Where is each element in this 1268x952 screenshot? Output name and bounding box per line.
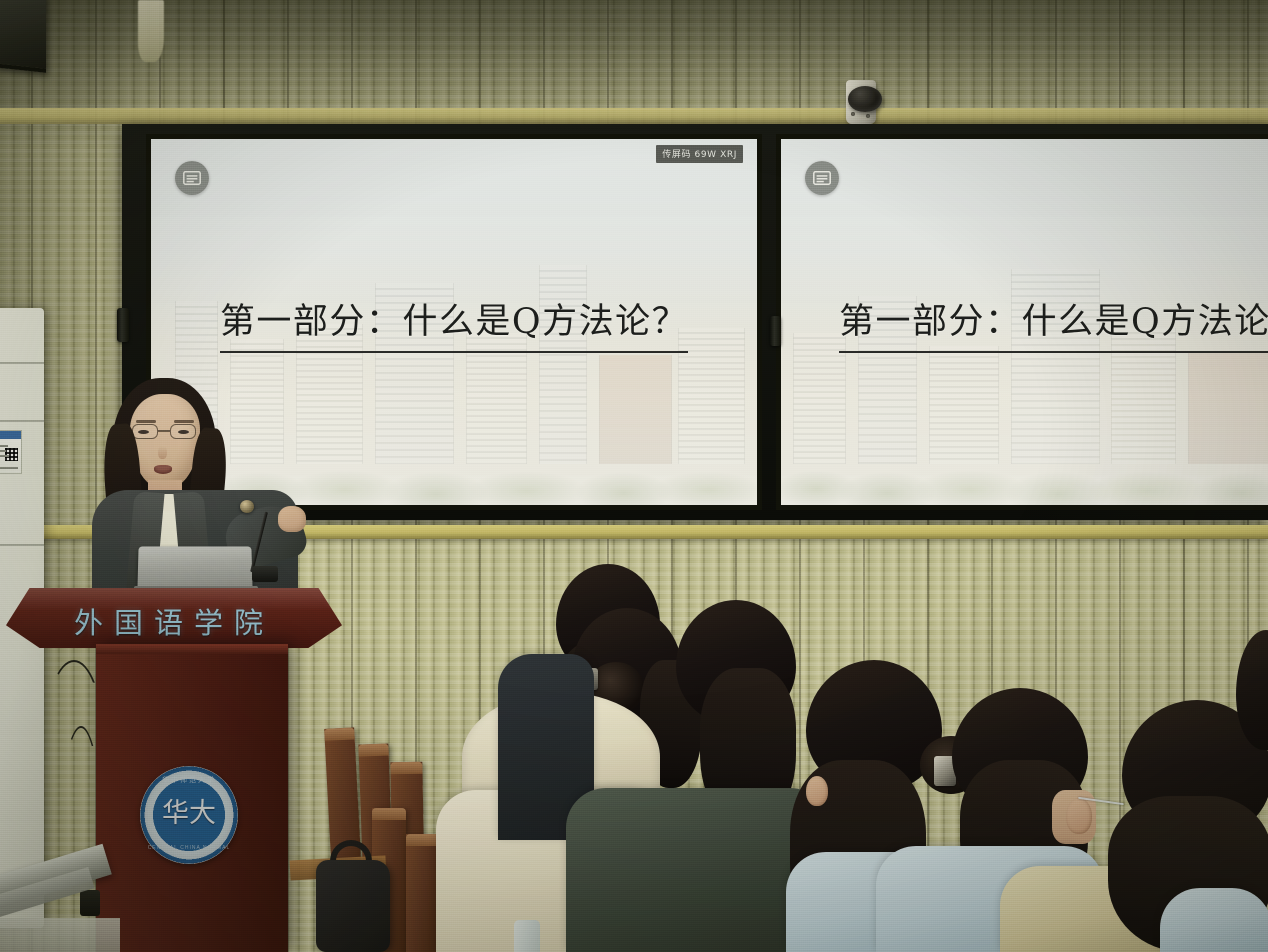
- podium-column-bevel: [96, 644, 288, 654]
- laptop-on-podium: [137, 546, 252, 590]
- lecture-hall-photo: 第一部分：什么是Q方法论？ 传屏码 69W XRJ: [0, 0, 1268, 952]
- water-bottle: [514, 920, 540, 952]
- wall-scuff-mark: [138, 0, 164, 62]
- display-control-knob-middle[interactable]: [770, 316, 781, 346]
- handbag: [316, 860, 390, 952]
- display-control-knob-left[interactable]: [117, 308, 129, 342]
- equipment-qr-sticker: [0, 430, 22, 474]
- presenter-hand: [278, 506, 306, 532]
- presenter-nose: [158, 446, 167, 459]
- presenter-glasses-icon: [130, 424, 202, 440]
- cable-junction-box: [80, 890, 100, 916]
- podium-sign-text: 外国语学院: [6, 600, 342, 642]
- presentation-icon[interactable]: [175, 161, 209, 195]
- right-slide-title: 第一部分：什么是Q方法论: [839, 293, 1268, 353]
- right-slide-title-block: 第一部分：什么是Q方法论: [781, 293, 1268, 353]
- security-camera-icon: [848, 86, 882, 112]
- right-display-panel[interactable]: 第一部分：什么是Q方法论: [776, 134, 1268, 510]
- emblem-glyph-text: 华大: [162, 801, 216, 827]
- presentation-icon-right[interactable]: [805, 161, 839, 195]
- emblem-top-arc-text: 华中师范大学: [140, 775, 238, 785]
- screen-cast-code-badge: 传屏码 69W XRJ: [656, 145, 743, 163]
- floor-edge: [0, 918, 120, 952]
- left-slide-title: 第一部分：什么是Q方法论？: [220, 293, 688, 353]
- university-emblem: 华中师范大学 华大 CENTRAL CHINA NORMAL UNIVERSIT…: [140, 766, 238, 864]
- left-slide-title-block: 第一部分：什么是Q方法论？: [151, 293, 757, 353]
- presenter-mouth: [154, 465, 172, 474]
- auditorium-seat-armrest: [406, 834, 440, 952]
- ceiling-vent: [0, 0, 46, 73]
- upper-wall-trim: [0, 108, 1268, 124]
- microphone-icon: [240, 500, 254, 513]
- emblem-bottom-arc-text: CENTRAL CHINA NORMAL UNIVERSITY: [140, 845, 238, 857]
- microphone-base: [252, 566, 278, 582]
- right-slide-surface: 第一部分：什么是Q方法论: [781, 139, 1268, 505]
